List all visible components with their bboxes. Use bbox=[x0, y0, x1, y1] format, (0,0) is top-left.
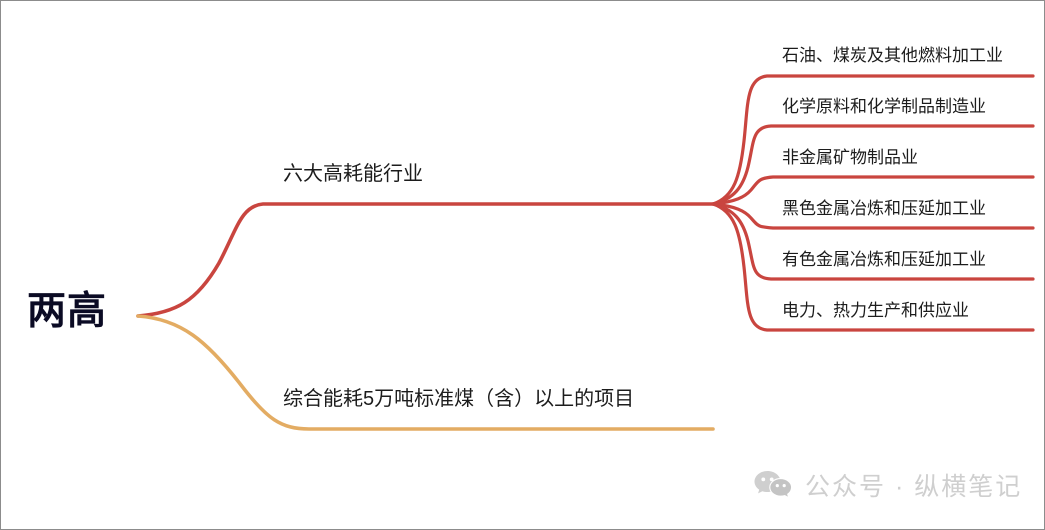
root-node-label[interactable]: 两高 bbox=[27, 292, 107, 331]
mindmap-canvas: 两高 六大高耗能行业 综合能耗5万吨标准煤（含）以上的项目 石油、煤炭及其他燃料… bbox=[0, 0, 1045, 530]
leaf-label-ferrous-metal-smelting[interactable]: 黑色金属冶炼和压延加工业 bbox=[782, 200, 986, 217]
leaf-label-chemical-raw-materials[interactable]: 化学原料和化学制品制造业 bbox=[782, 98, 986, 115]
wechat-icon bbox=[753, 469, 793, 501]
leaf-label-petroleum-coal-fuel-processing[interactable]: 石油、煤炭及其他燃料加工业 bbox=[782, 47, 1003, 64]
watermark: 公众号 · 纵横笔记 bbox=[753, 467, 1022, 503]
connector-branch0-to-leaf-0 bbox=[713, 76, 1033, 204]
connector-root-to-branch-1 bbox=[138, 316, 713, 429]
leaf-label-electricity-heat-production[interactable]: 电力、热力生产和供应业 bbox=[782, 302, 969, 319]
branch-label-six-high-energy-industries[interactable]: 六大高耗能行业 bbox=[283, 164, 423, 184]
branch-label-comprehensive-energy-projects[interactable]: 综合能耗5万吨标准煤（含）以上的项目 bbox=[283, 389, 634, 409]
leaf-label-nonmetal-mineral-products[interactable]: 非金属矿物制品业 bbox=[782, 149, 918, 166]
connector-root-to-branch-0 bbox=[138, 204, 713, 316]
leaf-label-nonferrous-metal-smelting[interactable]: 有色金属冶炼和压延加工业 bbox=[782, 251, 986, 268]
watermark-text: 公众号 · 纵横笔记 bbox=[805, 467, 1022, 503]
